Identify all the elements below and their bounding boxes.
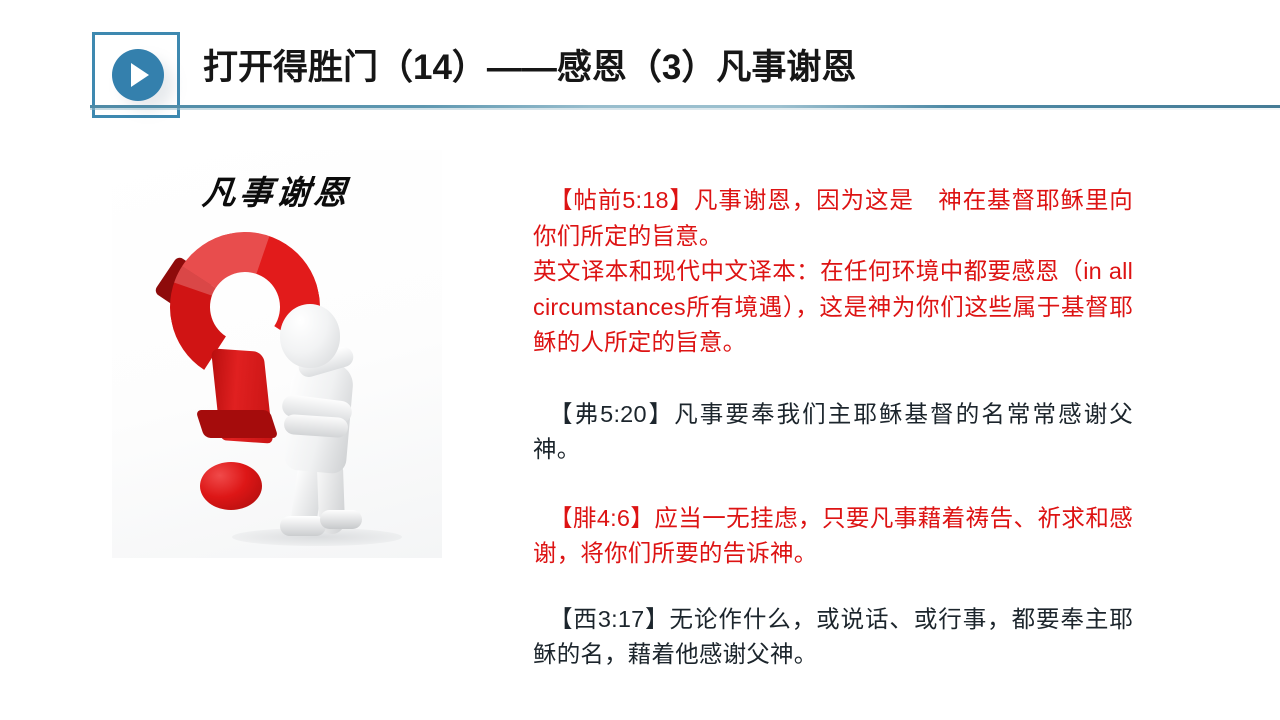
- question-mark-dot-icon: [200, 462, 262, 510]
- verse-spacer: [533, 572, 1133, 602]
- verse-spacer: [533, 361, 1133, 397]
- figure-foot-right: [320, 510, 362, 529]
- figure-head: [280, 304, 340, 368]
- verse-1thess-5-18-translation: 英文译本和现代中文译本：在任何环境中都要感恩（in all circumstan…: [533, 254, 1133, 361]
- verse-1thess-5-18: 【帖前5:18】凡事谢恩，因为这是 神在基督耶稣里向你们所定的旨意。: [533, 183, 1133, 254]
- play-circle-icon[interactable]: [112, 49, 164, 101]
- play-triangle-icon: [131, 63, 149, 87]
- illustration-panel: 凡事谢恩: [112, 150, 442, 558]
- question-mark-stem-base: [195, 410, 278, 438]
- header-divider-soft: [90, 108, 1280, 110]
- question-mark-graphic: [112, 212, 442, 558]
- verse-eph-5-20: 【弗5:20】凡事要奉我们主耶稣基督的名常常感谢父 神。: [533, 397, 1133, 468]
- page-title: 打开得胜门（14）——感恩（3）凡事谢恩: [203, 46, 856, 90]
- verse-col-3-17: 【西3:17】无论作什么，或说话、或行事，都要奉主耶稣的名，藉着他感谢父神。: [533, 602, 1133, 673]
- slide-header: 打开得胜门（14）——感恩（3）凡事谢恩: [0, 0, 1280, 130]
- verse-phil-4-6: 【腓4:6】应当一无挂虑，只要凡事藉着祷告、祈求和感谢，将你们所要的告诉神。: [533, 501, 1133, 572]
- calligraphy-title: 凡事谢恩: [109, 166, 444, 214]
- scripture-column: 【帖前5:18】凡事谢恩，因为这是 神在基督耶稣里向你们所定的旨意。 英文译本和…: [533, 183, 1133, 673]
- verse-spacer: [533, 468, 1133, 501]
